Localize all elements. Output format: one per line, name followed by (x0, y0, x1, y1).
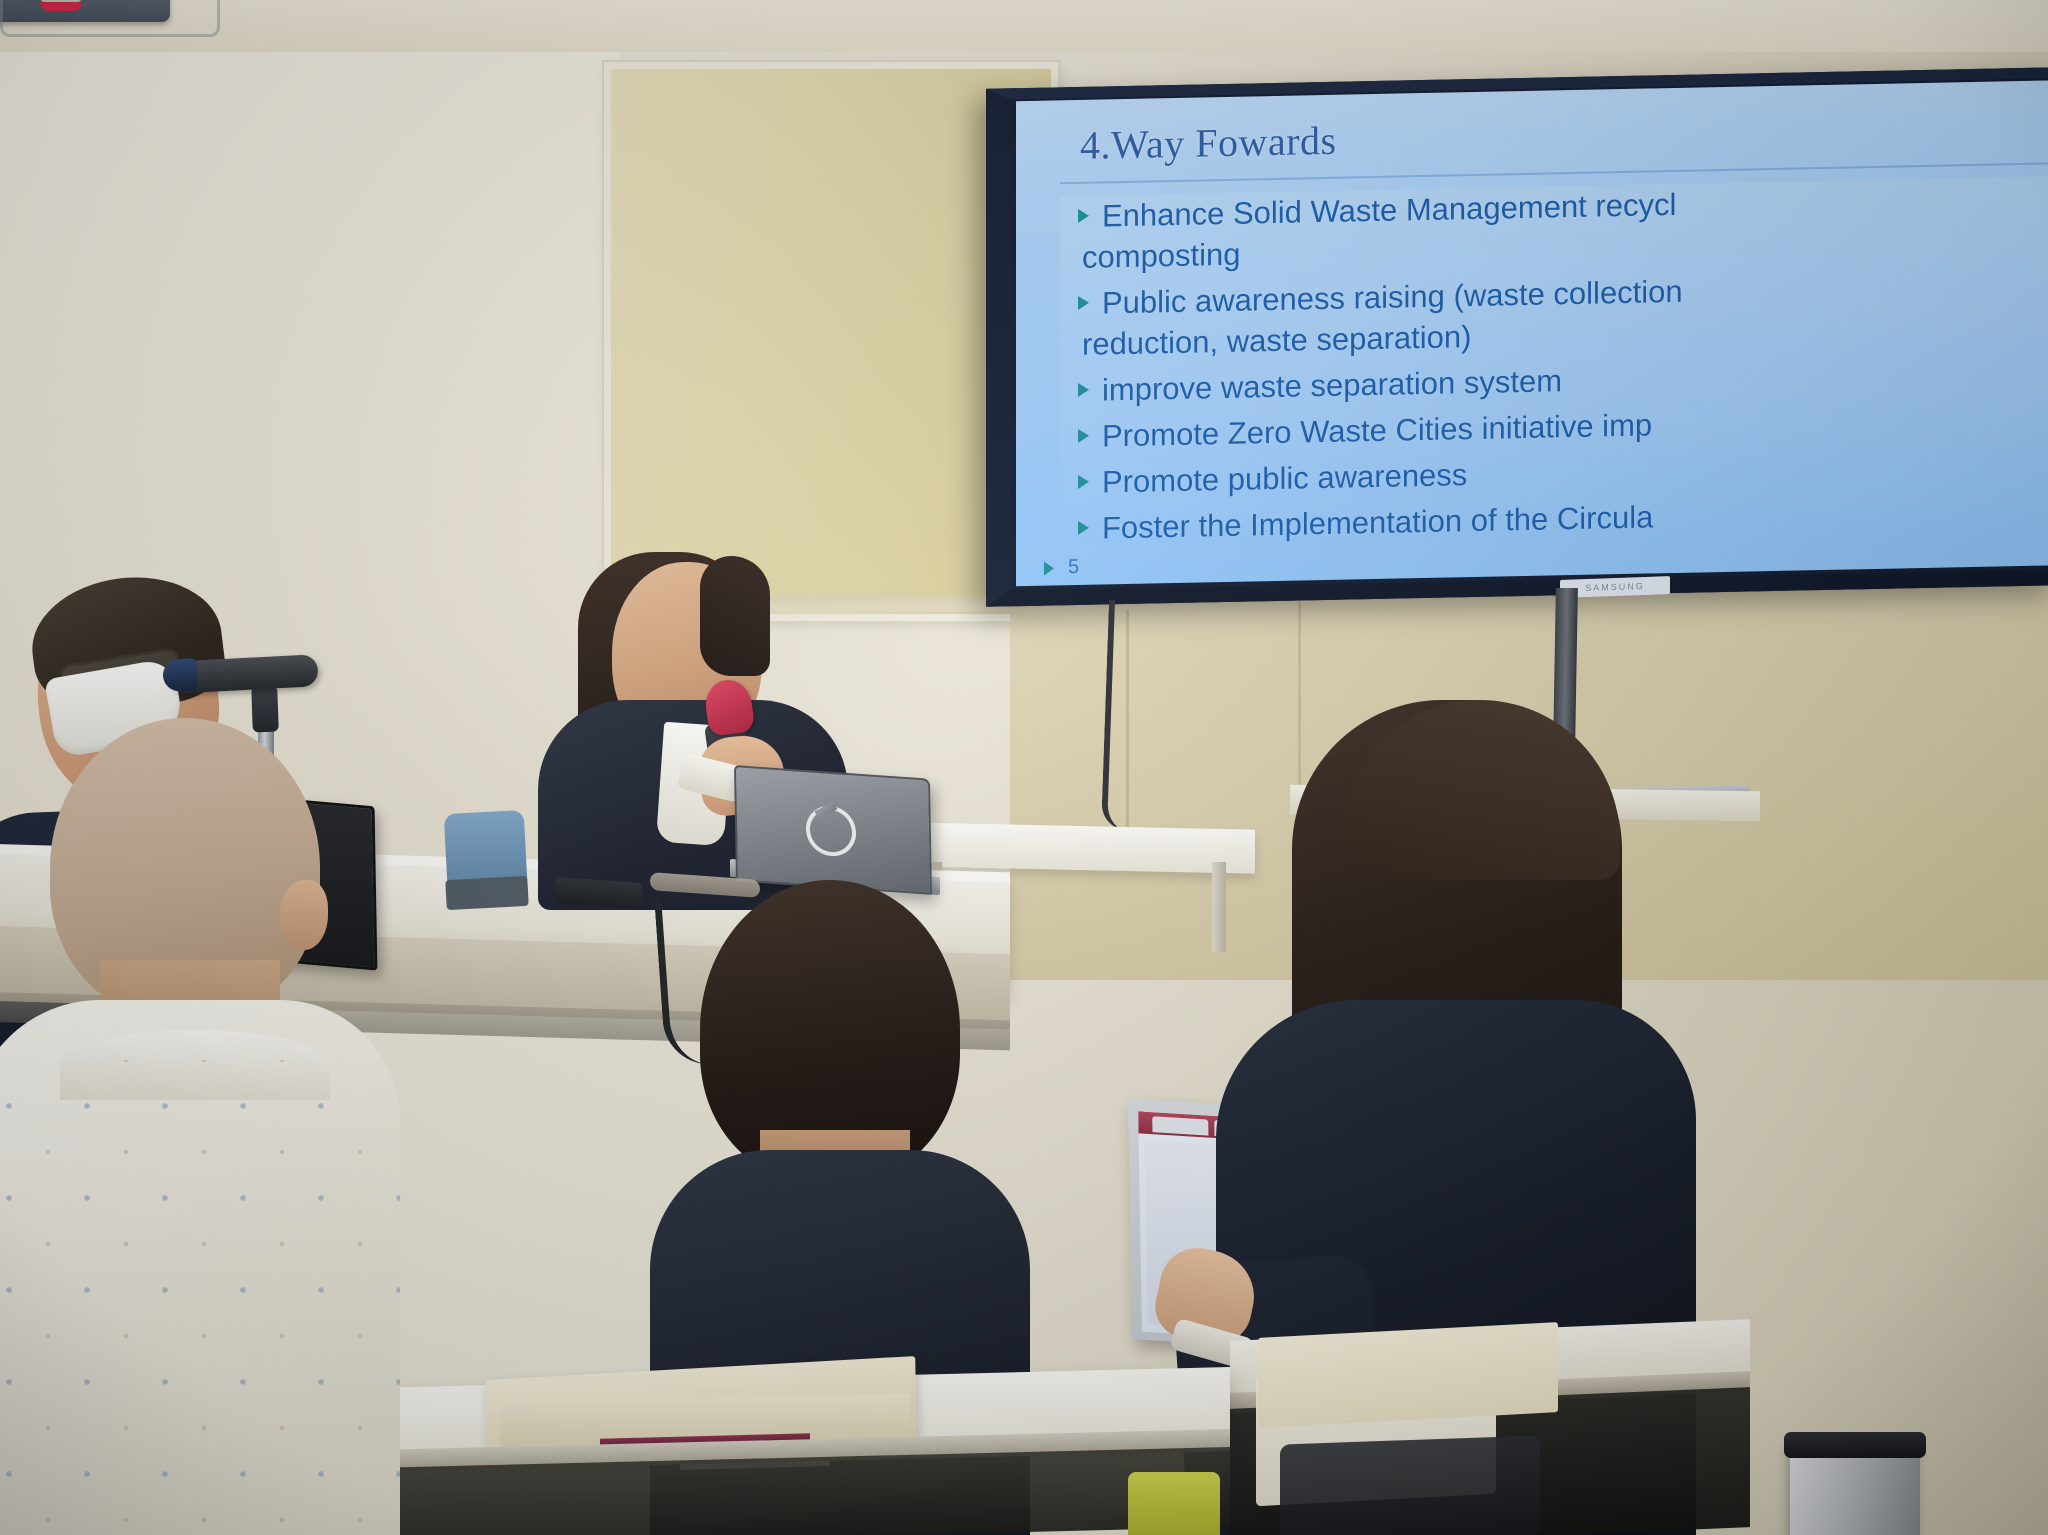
bullet-text: Public awareness raising (waste collecti… (1102, 274, 1683, 321)
slide-content: 4.Way Fowards Enhance Solid Waste Manage… (1016, 80, 2048, 586)
bullet-arrow-icon (1078, 521, 1089, 535)
presentation-screen: 4.Way Fowards Enhance Solid Waste Manage… (986, 67, 2048, 607)
meeting-room-photo: 4.Way Fowards Enhance Solid Waste Manage… (0, 0, 2048, 1535)
bullet-arrow-icon (1078, 296, 1089, 310)
bullet-text: Enhance Solid Waste Management recycl (1102, 187, 1676, 234)
page-number-value: 5 (1068, 556, 1079, 578)
bullet-arrow-icon (1078, 209, 1089, 223)
slide-bullet-item: Public awareness raising (waste collecti… (1060, 263, 2048, 365)
green-cup (1128, 1472, 1220, 1535)
insulated-tumbler-lid (1784, 1432, 1926, 1458)
bullet-text: improve waste separation system (1102, 363, 1562, 407)
speaker-hair-front (700, 556, 770, 676)
bullet-text: Foster the Implementation of the Circula (1102, 499, 1653, 545)
ceiling-projector-frame (0, 0, 220, 37)
ceiling-strip (0, 0, 2048, 52)
wall-seam-secondary (1298, 600, 1301, 790)
papers-right-desk (1258, 1322, 1558, 1428)
audience-front-left-shirt-pattern (0, 1060, 400, 1535)
footer-arrow-icon (1044, 561, 1054, 575)
blue-chair-back (445, 876, 528, 910)
audience-front-left-ear (280, 880, 328, 950)
browser-tab[interactable] (1152, 1116, 1208, 1135)
side-table (905, 822, 1255, 873)
microphone-windscreen (162, 658, 198, 692)
slide-title: 4.Way Fowards (1080, 117, 1337, 169)
bullet-text: Promote Zero Waste Cities initiative imp (1102, 407, 1652, 453)
bullet-arrow-icon (1078, 429, 1089, 443)
slide-bullet-list: Enhance Solid Waste Management recycl co… (1060, 176, 2048, 533)
bullet-arrow-icon (1078, 475, 1089, 489)
slide-bullet-item: Enhance Solid Waste Management recycl co… (1060, 176, 2048, 278)
foreground-chair (1280, 1435, 1540, 1535)
bullet-text: Promote public awareness (1102, 457, 1467, 499)
bullet-arrow-icon (1078, 383, 1089, 397)
slide-page-number: 5 (1044, 556, 1079, 580)
side-table-leg (1212, 862, 1226, 952)
microphone-stand-joint (251, 686, 279, 733)
